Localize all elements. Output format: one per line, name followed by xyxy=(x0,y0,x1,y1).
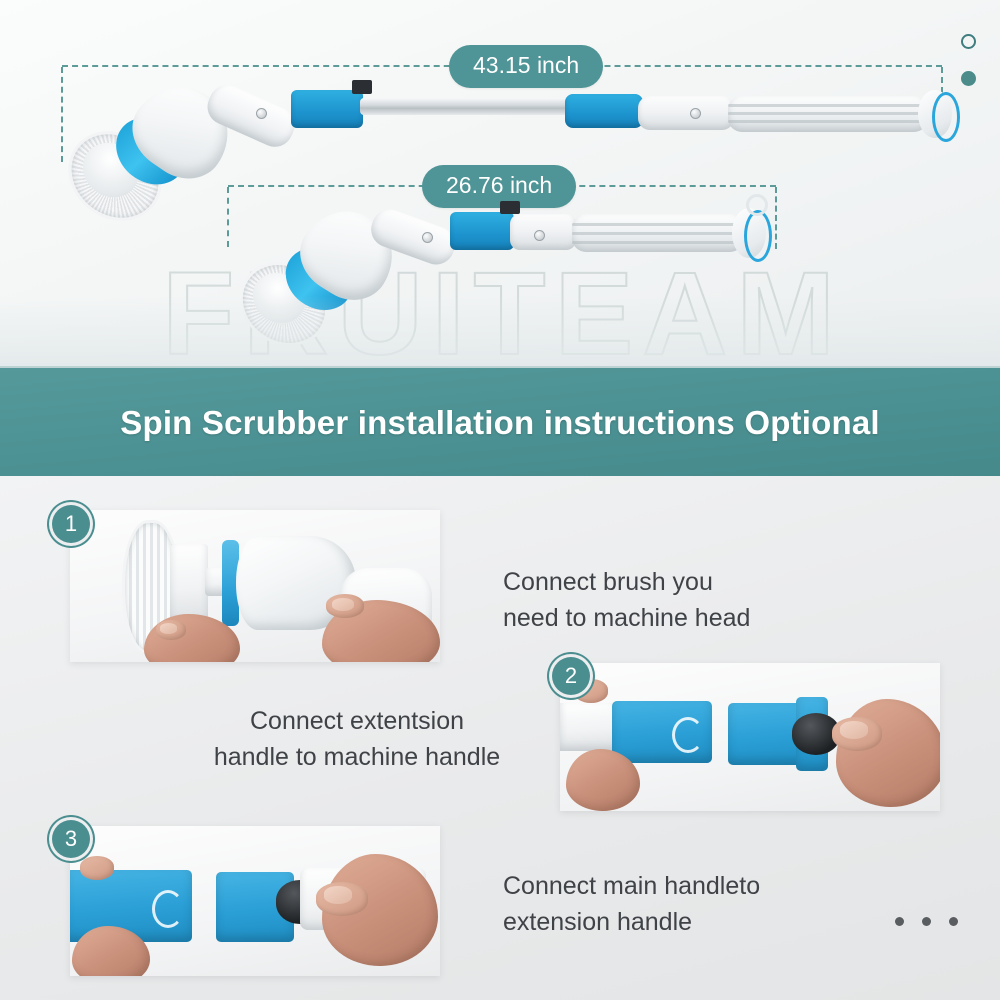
power-switch xyxy=(352,80,372,94)
section-banner: Spin Scrubber installation instructions … xyxy=(0,366,1000,478)
handle-end-ring xyxy=(932,92,960,142)
handle-screw xyxy=(534,230,545,241)
brush-backing-plate xyxy=(170,544,208,624)
hero-section: FRUITEAM 43.15 inch 26.76 inch xyxy=(0,0,1000,366)
step-row-3: 3 Connect main handleto extension xyxy=(0,794,1000,974)
carousel-indicator-dots[interactable] xyxy=(961,34,976,108)
step-text-2: Connect extentsion handle to machine han… xyxy=(187,703,527,776)
product-image-short-scrubber xyxy=(228,192,788,337)
step-text-3: Connect main handleto extension handle xyxy=(503,868,833,941)
hand-grip xyxy=(572,214,744,252)
neck-screw xyxy=(256,108,267,119)
grip-rib xyxy=(572,223,744,226)
step-badge-3: 3 xyxy=(52,820,90,858)
latch-icon xyxy=(152,890,184,928)
power-switch xyxy=(500,201,520,214)
grip-rib xyxy=(728,120,928,123)
handle-screw xyxy=(690,108,701,119)
grip-rib xyxy=(572,241,744,244)
main-handle-tube xyxy=(638,96,734,130)
machine-handle-tube xyxy=(560,703,618,751)
step-badge-1: 1 xyxy=(52,505,90,543)
neck-screw xyxy=(422,232,433,243)
dot-icon xyxy=(895,917,904,926)
circle-outline-icon[interactable] xyxy=(961,34,976,49)
dot-icon xyxy=(922,917,931,926)
blue-lock-collar xyxy=(291,90,363,128)
installation-steps-section: 1 Connect brush you need xyxy=(0,476,1000,1000)
banner-title: Spin Scrubber installation instructions … xyxy=(120,404,880,442)
step-text-1: Connect brush you need to machine head xyxy=(503,564,833,637)
grip-rib xyxy=(572,232,744,235)
fingernail xyxy=(332,598,354,611)
handle-end-ring xyxy=(744,210,772,262)
hanging-hook xyxy=(746,194,768,216)
dot-icon xyxy=(949,917,958,926)
step-badge-2: 2 xyxy=(552,657,590,695)
product-infographic-page: FRUITEAM 43.15 inch 26.76 inch xyxy=(0,0,1000,1000)
right-hand xyxy=(836,699,940,807)
fingernail xyxy=(324,886,352,904)
step-photo-3 xyxy=(70,826,440,976)
hand-grip xyxy=(728,96,928,132)
grip-rib xyxy=(728,104,928,107)
grip-rib xyxy=(728,112,928,115)
metal-extension-pole xyxy=(360,98,575,115)
fingernail xyxy=(840,721,868,739)
product-image-long-scrubber xyxy=(60,72,940,212)
step-row-2: 2 Connect extentsion handle to machine h… xyxy=(0,631,1000,806)
more-indicator-ellipsis[interactable] xyxy=(895,917,958,926)
step-photo-2 xyxy=(560,663,940,811)
latch-icon xyxy=(672,717,704,753)
finger xyxy=(80,856,114,880)
blue-lock-collar xyxy=(450,212,514,250)
circle-filled-icon[interactable] xyxy=(961,71,976,86)
step-row-1: 1 Connect brush you need xyxy=(0,476,1000,651)
mid-blue-section xyxy=(565,94,643,128)
